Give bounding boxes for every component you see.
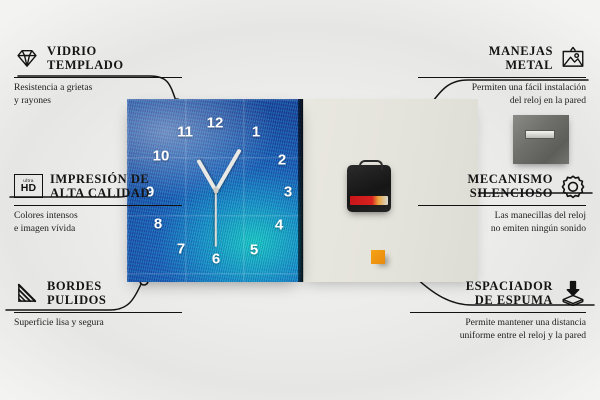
foam-spacer (371, 250, 385, 264)
feature-desc-line2: uniforme entre el reloj y la pared (410, 330, 586, 343)
ultra-hd-icon: ultra HD (14, 174, 43, 198)
feature-header: ESPACIADOR DE ESPUMA (410, 279, 586, 308)
quartz-movement (347, 165, 391, 212)
clock-second-hand (215, 191, 217, 247)
clock-numeral-7: 7 (177, 242, 185, 257)
gear-icon (560, 173, 586, 199)
feature-title-line1: MANEJAS (489, 44, 553, 58)
feature-title-line1: BORDES (47, 279, 106, 293)
feature-vidrio-templado[interactable]: VIDRIO TEMPLADO Resistencia a grietas y … (14, 44, 182, 108)
feature-mecanismo-silencioso[interactable]: MECANISMO SILENCIOSO Las manecillas del … (418, 172, 586, 236)
feature-desc-line1: Resistencia a grietas (14, 82, 182, 95)
polished-edges-icon (14, 280, 40, 306)
clock-numeral-1: 1 (252, 125, 260, 140)
feature-impresion-alta-calidad[interactable]: ultra HD IMPRESIÓN DE ALTA CALIDAD Color… (14, 172, 182, 236)
feature-description: Superficie lisa y segura (14, 317, 182, 330)
feature-description: Colores intensos e imagen vívida (14, 210, 182, 235)
feature-espaciador-espuma[interactable]: ESPACIADOR DE ESPUMA Permite mantener un… (410, 279, 586, 343)
feature-header: BORDES PULIDOS (14, 279, 182, 308)
feature-desc-line2: no emiten ningún sonido (418, 223, 586, 236)
feature-desc-line1: Superficie lisa y segura (14, 317, 182, 330)
clock-numeral-11: 11 (177, 125, 193, 140)
infographic-canvas: 12 1 2 3 4 5 6 7 8 9 10 11 (0, 0, 600, 400)
feature-description: Permiten una fácil instalación del reloj… (418, 82, 586, 107)
feature-divider (14, 205, 182, 207)
clock-center-pin (214, 189, 219, 194)
feature-title: VIDRIO TEMPLADO (47, 44, 124, 73)
feature-desc-line1: Colores intensos (14, 210, 182, 223)
feature-divider (410, 312, 586, 314)
feature-title-line2: SILENCIOSO (467, 186, 553, 200)
metal-hanger-plate (513, 115, 569, 164)
feature-title-line1: ESPACIADOR (466, 279, 553, 293)
clock-numeral-4: 4 (275, 218, 283, 233)
feature-title-line2: PULIDOS (47, 293, 106, 307)
clock-numeral-6: 6 (212, 252, 220, 267)
clock-numeral-3: 3 (284, 185, 292, 200)
feature-divider (14, 312, 182, 314)
feature-divider (14, 77, 182, 79)
feature-header: VIDRIO TEMPLADO (14, 44, 182, 73)
clock-numeral-12: 12 (207, 116, 224, 131)
feature-title-line2: TEMPLADO (47, 58, 124, 72)
clock-minute-hand (214, 148, 241, 192)
clock-numeral-5: 5 (250, 243, 258, 258)
hanger-slot (525, 130, 555, 139)
feature-desc-line2: y rayones (14, 95, 182, 108)
feature-title-line1: MECANISMO (467, 172, 553, 186)
feature-header: MECANISMO SILENCIOSO (418, 172, 586, 201)
feature-divider (418, 205, 586, 207)
feature-description: Las manecillas del reloj no emiten ningú… (418, 210, 586, 235)
feature-bordes-pulidos[interactable]: BORDES PULIDOS Superficie lisa y segura (14, 279, 182, 330)
feature-header: ultra HD IMPRESIÓN DE ALTA CALIDAD (14, 172, 182, 201)
clock-numeral-2: 2 (278, 153, 286, 168)
feature-description: Resistencia a grietas y rayones (14, 82, 182, 107)
feature-title-line1: VIDRIO (47, 44, 124, 58)
picture-hanger-icon (560, 45, 586, 71)
feature-desc-line2: e imagen vívida (14, 223, 182, 236)
feature-desc-line2: del reloj en la pared (418, 95, 586, 108)
feature-title-line2: DE ESPUMA (466, 293, 553, 307)
feature-title-line1: IMPRESIÓN DE (50, 172, 150, 186)
feature-title-line2: ALTA CALIDAD (50, 186, 150, 200)
feature-title: ESPACIADOR DE ESPUMA (466, 279, 553, 308)
diamond-icon (14, 45, 40, 71)
feature-title-line2: METAL (489, 58, 553, 72)
feature-desc-line1: Las manecillas del reloj (418, 210, 586, 223)
feature-description: Permite mantener una distancia uniforme … (410, 317, 586, 342)
foam-spacer-icon (560, 280, 586, 306)
feature-header: MANEJAS METAL (418, 44, 586, 73)
feature-manejas-metal[interactable]: MANEJAS METAL Permiten una fácil instala… (418, 44, 586, 108)
feature-desc-line1: Permite mantener una distancia (410, 317, 586, 330)
feature-title: MECANISMO SILENCIOSO (467, 172, 553, 201)
feature-title: IMPRESIÓN DE ALTA CALIDAD (50, 172, 150, 201)
ultra-hd-icon-big-text: HD (21, 183, 37, 194)
feature-title: MANEJAS METAL (489, 44, 553, 73)
clock-numeral-10: 10 (153, 149, 170, 164)
feature-title: BORDES PULIDOS (47, 279, 106, 308)
aa-battery (350, 196, 388, 205)
feature-desc-line1: Permiten una fácil instalación (418, 82, 586, 95)
feature-divider (418, 77, 586, 79)
